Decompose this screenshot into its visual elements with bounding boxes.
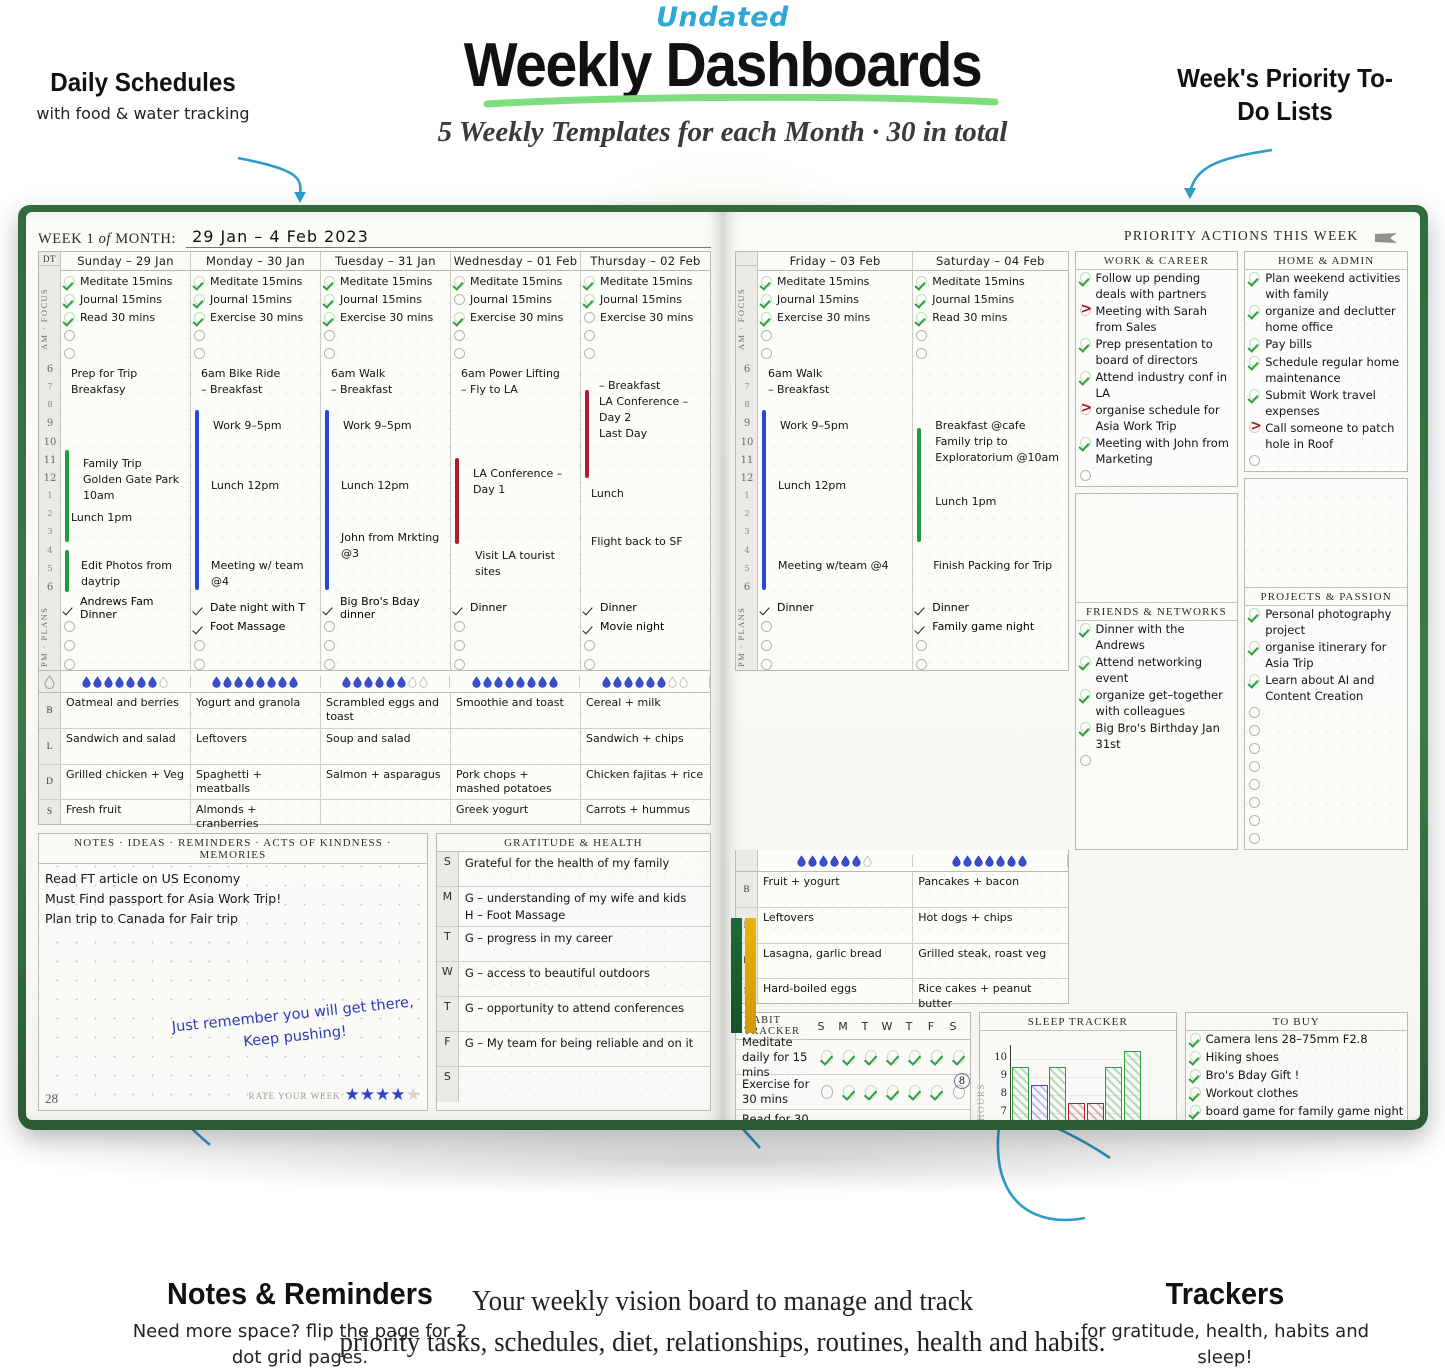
- water-drop-icon[interactable]: [952, 855, 961, 867]
- schedule-event[interactable]: Lunch 12pm: [341, 478, 448, 494]
- checklist-item[interactable]: Attend industry conf in LA: [1076, 369, 1238, 402]
- gratitude-text[interactable]: [459, 1067, 710, 1102]
- focus-item[interactable]: [915, 326, 1065, 344]
- checklist-item[interactable]: organise schedule for Asia Work Trip: [1076, 402, 1238, 435]
- water-drop-icon[interactable]: [852, 855, 861, 867]
- checkbox-done[interactable]: [193, 311, 206, 324]
- checkbox-done[interactable]: [882, 1049, 904, 1065]
- focus-item[interactable]: Journal 15mins: [193, 290, 318, 308]
- meal-cell[interactable]: [451, 729, 581, 765]
- checkbox-done[interactable]: [63, 293, 76, 306]
- notes-body[interactable]: Read FT article on US Economy Must Find …: [39, 864, 427, 1110]
- pm-plan-item[interactable]: [451, 617, 580, 636]
- pm-plan-item[interactable]: [321, 636, 450, 655]
- water-drop-icon[interactable]: [256, 676, 265, 688]
- water-drop-icon[interactable]: [115, 676, 124, 688]
- checklist-item[interactable]: Big Bro's Birthday Jan 31st: [1076, 720, 1238, 753]
- checkbox-done[interactable]: [1079, 436, 1092, 449]
- focus-item[interactable]: [453, 326, 578, 344]
- meal-cell[interactable]: Pancakes + bacon: [913, 872, 1067, 908]
- focus-item[interactable]: [760, 344, 910, 362]
- star-icon[interactable]: ★: [406, 1085, 421, 1104]
- focus-item[interactable]: Exercise 30 mins: [323, 308, 448, 326]
- water-drop-icon[interactable]: [974, 855, 983, 867]
- meal-cell[interactable]: Fruit + yogurt: [758, 872, 913, 908]
- water-drop-icon[interactable]: [646, 676, 655, 688]
- water-drop-icon[interactable]: [538, 676, 547, 688]
- schedule-event[interactable]: Finish Packing for Trip: [933, 558, 1065, 574]
- checkbox-empty[interactable]: [1248, 760, 1261, 773]
- checklist-item[interactable]: organize get–together with colleagues: [1076, 687, 1238, 720]
- meal-cell[interactable]: Oatmeal and berries: [61, 693, 191, 729]
- day-timeline[interactable]: 6am Power Lifting – Fly to LALA Conferen…: [451, 362, 580, 598]
- checkbox-empty[interactable]: [323, 347, 336, 360]
- checkbox-done[interactable]: [323, 275, 336, 288]
- day-timeline[interactable]: Prep for Trip BreakfasyFamily Trip Golde…: [61, 362, 190, 598]
- checkbox-plain[interactable]: [583, 601, 596, 614]
- checkbox-empty[interactable]: [583, 658, 596, 671]
- focus-item[interactable]: [583, 326, 708, 344]
- pm-plan-item[interactable]: [451, 636, 580, 655]
- water-drop-icon[interactable]: [126, 676, 135, 688]
- pm-plan-item[interactable]: [61, 655, 190, 674]
- checkbox-done[interactable]: [915, 311, 928, 324]
- checkbox-done[interactable]: [1079, 622, 1092, 635]
- water-drop-icon[interactable]: [137, 676, 146, 688]
- water-drop-icon[interactable]: [527, 676, 536, 688]
- pm-plan-item[interactable]: [758, 655, 912, 674]
- checkbox-empty[interactable]: [915, 639, 928, 652]
- schedule-event[interactable]: Edit Photos from daytrip: [81, 558, 188, 590]
- checkbox-done[interactable]: [1248, 271, 1261, 284]
- pm-plan-item[interactable]: [758, 636, 912, 655]
- schedule-event[interactable]: 6am Power Lifting – Fly to LA: [461, 366, 578, 398]
- star-icon[interactable]: ★: [375, 1085, 390, 1104]
- checkbox-empty[interactable]: [1079, 469, 1092, 482]
- schedule-event[interactable]: Lunch: [591, 486, 708, 502]
- focus-item[interactable]: [915, 344, 1065, 362]
- meal-cell[interactable]: Cereal + milk: [581, 693, 710, 729]
- water-drop-icon[interactable]: [353, 676, 362, 688]
- checkbox-empty[interactable]: [583, 347, 596, 360]
- focus-item[interactable]: Journal 15mins: [63, 290, 188, 308]
- pm-plan-item[interactable]: Dinner: [913, 598, 1067, 617]
- water-drop-icon[interactable]: [830, 855, 839, 867]
- water-drop-icon[interactable]: [516, 676, 525, 688]
- checkbox-done[interactable]: [904, 1119, 926, 1120]
- focus-item[interactable]: [63, 344, 188, 362]
- checkbox-done[interactable]: [860, 1119, 882, 1120]
- checklist-item[interactable]: Meeting with John from Marketing: [1076, 435, 1238, 468]
- checkbox-done[interactable]: [882, 1084, 904, 1100]
- focus-item[interactable]: Journal 15mins: [453, 290, 578, 308]
- pm-plan-item[interactable]: Andrews Fam Dinner: [61, 598, 190, 617]
- checkbox-done[interactable]: [816, 1049, 838, 1065]
- focus-item[interactable]: Meditate 15mins: [583, 272, 708, 290]
- gratitude-text[interactable]: G – opportunity to attend conferences: [459, 997, 710, 1031]
- star-icon[interactable]: ★: [360, 1085, 375, 1104]
- checklist-item[interactable]: Pay bills: [1245, 336, 1407, 354]
- meal-cell[interactable]: Sandwich and salad: [61, 729, 191, 765]
- checkbox-empty[interactable]: [323, 639, 336, 652]
- day-timeline[interactable]: 6am Bike Ride – BreakfastWork 9–5pmLunch…: [191, 362, 320, 598]
- checklist-item[interactable]: Workout clothes: [1186, 1085, 1407, 1103]
- schedule-event[interactable]: 6am Walk – Breakfast: [768, 366, 910, 398]
- checklist-item[interactable]: organize and declutter home office: [1245, 303, 1407, 336]
- checkbox-empty[interactable]: [193, 329, 206, 342]
- checkbox-empty[interactable]: [882, 1119, 904, 1120]
- water-drop-icon[interactable]: [223, 676, 232, 688]
- checkbox-done[interactable]: [1248, 640, 1261, 653]
- checkbox-empty[interactable]: [760, 658, 773, 671]
- checkbox-empty[interactable]: [1248, 796, 1261, 809]
- checklist-item[interactable]: Dinner with the Andrews: [1076, 621, 1238, 654]
- schedule-event[interactable]: Meeting w/team @4: [778, 558, 910, 574]
- checkbox-done[interactable]: [1079, 337, 1092, 350]
- checkbox-done[interactable]: [948, 1119, 970, 1120]
- meal-cell[interactable]: Rice cakes + peanut butter: [913, 979, 1067, 1003]
- water-drop-icon[interactable]: [364, 676, 373, 688]
- day-timeline[interactable]: Breakfast @cafe Family trip to Explorato…: [913, 362, 1067, 598]
- pm-plan-item[interactable]: [191, 655, 320, 674]
- schedule-event[interactable]: Work 9–5pm: [213, 418, 318, 434]
- checkbox-empty[interactable]: [63, 347, 76, 360]
- meal-cell[interactable]: Leftovers: [758, 908, 913, 944]
- focus-item[interactable]: Exercise 30 mins: [583, 308, 708, 326]
- checkbox-done[interactable]: [860, 1084, 882, 1100]
- schedule-event[interactable]: Work 9–5pm: [343, 418, 448, 434]
- checkbox-done[interactable]: [1189, 1086, 1202, 1099]
- checkbox-plain[interactable]: [583, 620, 596, 633]
- gratitude-text[interactable]: Grateful for the health of my family: [459, 852, 710, 886]
- schedule-event[interactable]: Visit LA tourist sites: [475, 548, 578, 580]
- checkbox-done[interactable]: [1189, 1068, 1202, 1081]
- water-drop-icon[interactable]: [104, 676, 113, 688]
- checkbox-empty[interactable]: [1248, 832, 1261, 845]
- meal-cell[interactable]: Smoothie and toast: [451, 693, 581, 729]
- meal-cell[interactable]: Leftovers: [191, 729, 321, 765]
- checkbox-plain[interactable]: [915, 620, 928, 633]
- checkbox-x[interactable]: [1079, 304, 1092, 317]
- focus-item[interactable]: Exercise 30 mins: [453, 308, 578, 326]
- checklist-item[interactable]: [1076, 753, 1238, 771]
- pm-plan-item[interactable]: Dinner: [581, 598, 710, 617]
- focus-item[interactable]: [323, 326, 448, 344]
- focus-item[interactable]: Meditate 15mins: [760, 272, 910, 290]
- checkbox-plain[interactable]: [63, 601, 76, 614]
- day-timeline[interactable]: 6am Walk – BreakfastWork 9–5pmLunch 12pm…: [321, 362, 450, 598]
- schedule-event[interactable]: Meeting w/ team @4: [211, 558, 318, 590]
- checklist-item[interactable]: Call someone to patch hole in Roof: [1245, 420, 1407, 453]
- checkbox-done[interactable]: [323, 293, 336, 306]
- checklist-item[interactable]: Meeting with Sarah from Sales: [1076, 303, 1238, 336]
- checkbox-empty[interactable]: [583, 311, 596, 324]
- water-drop-icon[interactable]: [397, 676, 406, 688]
- day-timeline[interactable]: 6am Walk – BreakfastWork 9–5pmLunch 12pm…: [758, 362, 912, 598]
- water-drop-icon[interactable]: [375, 676, 384, 688]
- checkbox-done[interactable]: [63, 311, 76, 324]
- gratitude-text[interactable]: G – access to beautiful outdoors: [459, 962, 710, 996]
- meal-cell[interactable]: Scrambled eggs and toast: [321, 693, 451, 729]
- checkbox-done[interactable]: [453, 311, 466, 324]
- focus-item[interactable]: Meditate 15mins: [453, 272, 578, 290]
- checkbox-done[interactable]: [1079, 688, 1092, 701]
- schedule-event[interactable]: 6am Walk – Breakfast: [331, 366, 448, 398]
- checklist-item[interactable]: [1245, 759, 1407, 777]
- water-drop-icon[interactable]: [82, 676, 91, 688]
- pm-plan-item[interactable]: [913, 655, 1067, 674]
- checklist-item[interactable]: Prep presentation to board of directors: [1076, 336, 1238, 369]
- focus-item[interactable]: [193, 344, 318, 362]
- focus-item[interactable]: [193, 326, 318, 344]
- checkbox-empty[interactable]: [915, 347, 928, 360]
- gratitude-text[interactable]: G – My team for being reliable and on it: [459, 1032, 710, 1066]
- schedule-event[interactable]: Lunch 12pm: [211, 478, 318, 494]
- checkbox-empty[interactable]: [453, 347, 466, 360]
- meal-cell[interactable]: Spaghetti + meatballs: [191, 765, 321, 801]
- pm-plan-item[interactable]: [581, 636, 710, 655]
- checkbox-done[interactable]: [1079, 721, 1092, 734]
- checkbox-done[interactable]: [760, 311, 773, 324]
- meal-cell[interactable]: Soup and salad: [321, 729, 451, 765]
- checkbox-done[interactable]: [760, 293, 773, 306]
- checklist-item[interactable]: Plan weekend activities with family: [1245, 270, 1407, 303]
- schedule-event[interactable]: Breakfast @cafe Family trip to Explorato…: [935, 418, 1065, 466]
- schedule-event[interactable]: 6am Bike Ride – Breakfast: [201, 366, 318, 398]
- meal-cell[interactable]: Salmon + asparagus: [321, 765, 451, 801]
- water-drop-icon[interactable]: [472, 676, 481, 688]
- checkbox-empty[interactable]: [193, 639, 206, 652]
- checklist-item[interactable]: organise itinerary for Asia Trip: [1245, 639, 1407, 672]
- checklist-item[interactable]: [1245, 831, 1407, 849]
- checkbox-plain[interactable]: [193, 620, 206, 633]
- checklist-item[interactable]: Camera lens 28–75mm F2.8: [1186, 1031, 1407, 1049]
- focus-item[interactable]: Meditate 15mins: [193, 272, 318, 290]
- water-drop-icon[interactable]: [93, 676, 102, 688]
- pm-plan-item[interactable]: Dinner: [758, 598, 912, 617]
- checklist-item[interactable]: [1245, 777, 1407, 795]
- water-drop-icon[interactable]: [1007, 855, 1016, 867]
- checklist-item[interactable]: Schedule regular home maintenance: [1245, 354, 1407, 387]
- checkbox-done[interactable]: [838, 1049, 860, 1065]
- checkbox-empty[interactable]: [453, 639, 466, 652]
- checkbox-empty[interactable]: [1248, 814, 1261, 827]
- schedule-event[interactable]: Prep for Trip Breakfasy: [71, 366, 188, 398]
- checkbox-empty[interactable]: [760, 639, 773, 652]
- meal-cell[interactable]: Fresh fruit: [61, 800, 191, 824]
- schedule-event[interactable]: Work 9–5pm: [780, 418, 910, 434]
- schedule-event[interactable]: Family Trip Golden Gate Park 10am: [83, 456, 188, 504]
- focus-item[interactable]: [453, 344, 578, 362]
- water-drop-icon[interactable]: [549, 676, 558, 688]
- checkbox-empty[interactable]: [583, 329, 596, 342]
- pm-plan-item[interactable]: Movie night: [581, 617, 710, 636]
- schedule-event[interactable]: John from Mrkting @3: [341, 530, 448, 562]
- checkbox-done[interactable]: [915, 293, 928, 306]
- checkbox-done[interactable]: [1248, 337, 1261, 350]
- star-icon[interactable]: ★: [390, 1085, 405, 1104]
- checklist-item[interactable]: [1245, 813, 1407, 831]
- water-drop-icon[interactable]: [386, 676, 395, 688]
- checkbox-x[interactable]: [1079, 403, 1092, 416]
- checkbox-empty[interactable]: [1248, 778, 1261, 791]
- water-drop-icon[interactable]: [985, 855, 994, 867]
- meal-cell[interactable]: Hard-boiled eggs: [758, 979, 913, 1003]
- checkbox-plain[interactable]: [193, 601, 206, 614]
- checkbox-done[interactable]: [583, 275, 596, 288]
- checkbox-empty[interactable]: [63, 620, 76, 633]
- meal-cell[interactable]: Almonds + cranberries: [191, 800, 321, 824]
- checkbox-empty[interactable]: [63, 658, 76, 671]
- schedule-event[interactable]: Flight back to SF: [591, 534, 708, 550]
- schedule-event[interactable]: Lunch 1pm: [935, 494, 1065, 510]
- checkbox-empty[interactable]: [915, 329, 928, 342]
- water-drop-icon[interactable]: [996, 855, 1005, 867]
- focus-item[interactable]: Meditate 15mins: [63, 272, 188, 290]
- pm-plan-item[interactable]: Foot Massage: [191, 617, 320, 636]
- checklist-item[interactable]: Personal photography project: [1245, 606, 1407, 639]
- checkbox-empty[interactable]: [453, 329, 466, 342]
- checkbox-empty[interactable]: [63, 329, 76, 342]
- checkbox-done[interactable]: [453, 275, 466, 288]
- pm-plan-item[interactable]: [451, 655, 580, 674]
- checklist-item[interactable]: [1245, 723, 1407, 741]
- meal-cell[interactable]: Grilled chicken + Veg: [61, 765, 191, 801]
- focus-item[interactable]: [323, 344, 448, 362]
- water-drop-icon[interactable]: [679, 676, 688, 688]
- checklist-item[interactable]: Submit Work travel expenses: [1245, 387, 1407, 420]
- schedule-event[interactable]: Lunch 1pm: [71, 510, 188, 526]
- checklist-item[interactable]: Learn about AI and Content Creation: [1245, 672, 1407, 705]
- focus-item[interactable]: Journal 15mins: [323, 290, 448, 308]
- pm-plan-item[interactable]: [191, 636, 320, 655]
- checkbox-done[interactable]: [1248, 673, 1261, 686]
- checklist-item[interactable]: board game for family game night: [1186, 1103, 1407, 1120]
- checkbox-empty[interactable]: [63, 639, 76, 652]
- checkbox-empty[interactable]: [1248, 454, 1261, 467]
- checkbox-empty[interactable]: [453, 293, 466, 306]
- checkbox-empty[interactable]: [915, 658, 928, 671]
- meal-cell[interactable]: Yogurt and granola: [191, 693, 321, 729]
- water-drops[interactable]: [61, 676, 710, 688]
- focus-item[interactable]: Exercise 30 mins: [193, 308, 318, 326]
- focus-item[interactable]: [760, 326, 910, 344]
- water-drop-icon[interactable]: [419, 676, 428, 688]
- water-drop-icon[interactable]: [613, 676, 622, 688]
- day-timeline[interactable]: – Breakfast LA Conference – Day 2 Last D…: [581, 362, 710, 598]
- checkbox-done[interactable]: [926, 1084, 948, 1100]
- checkbox-done[interactable]: [1248, 607, 1261, 620]
- checkbox-empty[interactable]: [323, 620, 336, 633]
- schedule-event[interactable]: – Breakfast LA Conference – Day 2 Last D…: [599, 378, 708, 442]
- checklist-item[interactable]: [1245, 453, 1407, 471]
- checkbox-empty[interactable]: [193, 658, 206, 671]
- pm-plan-item[interactable]: Date night with T: [191, 598, 320, 617]
- meal-cell[interactable]: Pork chops + mashed potatoes: [451, 765, 581, 801]
- week-date-range[interactable]: 29 Jan – 4 Feb 2023: [186, 227, 711, 248]
- checkbox-done[interactable]: [1189, 1032, 1202, 1045]
- checkbox-empty[interactable]: [1248, 706, 1261, 719]
- checkbox-plain[interactable]: [915, 601, 928, 614]
- checklist-item[interactable]: Attend networking event: [1076, 654, 1238, 687]
- water-drop-icon[interactable]: [245, 676, 254, 688]
- checklist-item[interactable]: Follow up pending deals with partners: [1076, 270, 1238, 303]
- checkbox-empty[interactable]: [816, 1084, 838, 1100]
- checkbox-empty[interactable]: [1248, 742, 1261, 755]
- water-drop-icon[interactable]: [267, 676, 276, 688]
- checkbox-done[interactable]: [323, 311, 336, 324]
- star-rating[interactable]: ★★★★★: [345, 1086, 421, 1105]
- water-drop-icon[interactable]: [657, 676, 666, 688]
- checkbox-done[interactable]: [860, 1049, 882, 1065]
- checkbox-done[interactable]: [904, 1084, 926, 1100]
- meal-cell[interactable]: Hot dogs + chips: [913, 908, 1067, 944]
- focus-item[interactable]: Meditate 15mins: [323, 272, 448, 290]
- checkbox-done[interactable]: [1189, 1104, 1202, 1117]
- focus-item[interactable]: [583, 344, 708, 362]
- gratitude-text[interactable]: G – progress in my career: [459, 927, 710, 961]
- water-drop-icon[interactable]: [668, 676, 677, 688]
- meal-cell[interactable]: Chicken fajitas + rice: [581, 765, 710, 801]
- focus-item[interactable]: Journal 15mins: [583, 290, 708, 308]
- water-drop-icon[interactable]: [963, 855, 972, 867]
- water-drop-icon[interactable]: [602, 676, 611, 688]
- focus-item[interactable]: Journal 15mins: [760, 290, 910, 308]
- star-icon[interactable]: ★: [345, 1085, 360, 1104]
- checkbox-empty[interactable]: [453, 658, 466, 671]
- checkbox-done[interactable]: [193, 275, 206, 288]
- checkbox-empty[interactable]: [816, 1119, 838, 1120]
- gratitude-text[interactable]: G – understanding of my wife and kids H …: [459, 887, 710, 926]
- checkbox-done[interactable]: [1079, 655, 1092, 668]
- pm-plan-item[interactable]: [913, 636, 1067, 655]
- checkbox-empty[interactable]: [583, 639, 596, 652]
- meal-cell[interactable]: Sandwich + chips: [581, 729, 710, 765]
- checklist-item[interactable]: [1245, 705, 1407, 723]
- water-drop-icon[interactable]: [635, 676, 644, 688]
- schedule-event[interactable]: LA Conference – Day 1: [473, 466, 578, 498]
- focus-item[interactable]: Read 30 mins: [63, 308, 188, 326]
- checkbox-done[interactable]: [1248, 304, 1261, 317]
- checkbox-done[interactable]: [838, 1084, 860, 1100]
- pm-plan-item[interactable]: Family game night: [913, 617, 1067, 636]
- water-drop-icon[interactable]: [841, 855, 850, 867]
- water-drop-icon[interactable]: [289, 676, 298, 688]
- rate-your-week[interactable]: RATE YOUR WEEK ★★★★★: [249, 1086, 421, 1105]
- pm-plan-item[interactable]: [321, 655, 450, 674]
- checkbox-empty[interactable]: [838, 1119, 860, 1120]
- meal-cell[interactable]: Lasagna, garlic bread: [758, 944, 913, 980]
- checkbox-done[interactable]: [760, 275, 773, 288]
- checkbox-x[interactable]: [1248, 421, 1261, 434]
- water-drop-icon[interactable]: [797, 855, 806, 867]
- checklist-item[interactable]: [1076, 468, 1238, 486]
- water-drop-icon[interactable]: [863, 855, 872, 867]
- checkbox-done[interactable]: [915, 275, 928, 288]
- meal-cell[interactable]: Grilled steak, roast veg: [913, 944, 1067, 980]
- focus-item[interactable]: Meditate 15mins: [915, 272, 1065, 290]
- checklist-item[interactable]: Bro's Bday Gift !: [1186, 1067, 1407, 1085]
- checkbox-empty[interactable]: [323, 329, 336, 342]
- checkbox-empty[interactable]: [323, 658, 336, 671]
- water-drop-icon[interactable]: [1018, 855, 1027, 867]
- focus-item[interactable]: Read 30 mins: [915, 308, 1065, 326]
- water-drop-icon[interactable]: [212, 676, 221, 688]
- water-drop-icon[interactable]: [342, 676, 351, 688]
- focus-item[interactable]: Exercise 30 mins: [760, 308, 910, 326]
- checkbox-empty[interactable]: [760, 329, 773, 342]
- water-drops[interactable]: [758, 855, 1068, 867]
